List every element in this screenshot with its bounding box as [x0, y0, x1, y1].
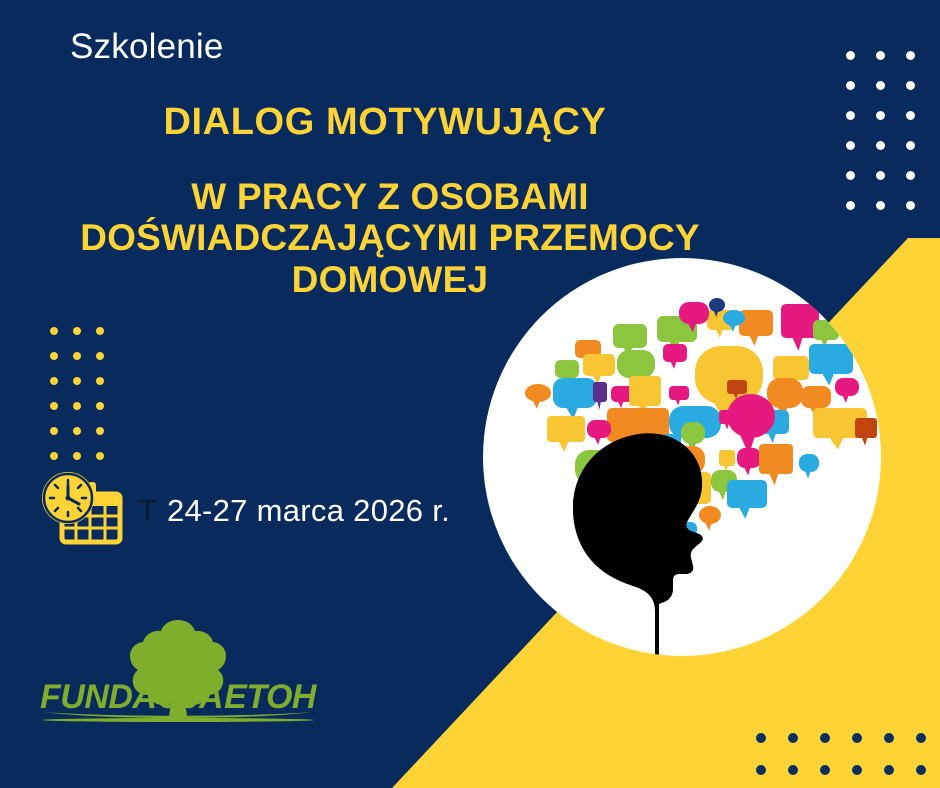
- decorative-dot: [50, 427, 58, 435]
- decorative-dot: [906, 171, 915, 180]
- decorative-dot: [788, 765, 798, 775]
- decorative-dot: [50, 402, 58, 410]
- decorative-dot: [96, 452, 104, 460]
- clock-calendar-icon: [36, 472, 128, 550]
- dot-grid-left: [42, 318, 111, 468]
- decorative-dot: [906, 81, 915, 90]
- decorative-dot: [73, 352, 81, 360]
- decorative-dot: [876, 171, 885, 180]
- decorative-dot: [756, 733, 766, 743]
- decorative-dot: [96, 427, 104, 435]
- subtitle-line-1: W PRACY Z OSOBAMI: [0, 176, 780, 217]
- decorative-dot: [876, 81, 885, 90]
- decorative-dot: [906, 111, 915, 120]
- two-heads-silhouette-icon: [483, 258, 881, 656]
- kicker-text: Szkolenie: [70, 28, 224, 67]
- decorative-dot: [846, 81, 855, 90]
- decorative-dot: [756, 765, 766, 775]
- decorative-dot: [906, 51, 915, 60]
- decorative-dot: [916, 765, 926, 775]
- date-row: T 24-27 marca 2026 r.: [36, 472, 450, 550]
- decorative-dot: [96, 377, 104, 385]
- page-title: DIALOG MOTYWUJĄCY: [0, 101, 770, 144]
- decorative-dot: [876, 51, 885, 60]
- decorative-dot: [50, 327, 58, 335]
- decorative-dot: [73, 452, 81, 460]
- decorative-dot: [96, 352, 104, 360]
- decorative-dot: [820, 733, 830, 743]
- decorative-dot: [50, 452, 58, 460]
- decorative-dot: [73, 377, 81, 385]
- decorative-dot: [50, 377, 58, 385]
- decorative-dot: [884, 733, 894, 743]
- decorative-dot: [846, 51, 855, 60]
- decorative-dot: [876, 141, 885, 150]
- decorative-dot: [73, 427, 81, 435]
- fundacja-etoh-logo[interactable]: FUNDACJA ETOH: [38, 612, 318, 740]
- subtitle-line-3: DOMOWEJ: [0, 259, 780, 300]
- subtitle: W PRACY Z OSOBAMI DOŚWIADCZAJĄCYMI PRZEM…: [0, 176, 780, 300]
- poster-canvas: Szkolenie DIALOG MOTYWUJĄCY W PRACY Z OS…: [0, 0, 940, 788]
- decorative-dot: [906, 201, 915, 210]
- decorative-dot: [846, 111, 855, 120]
- decorative-dot: [916, 733, 926, 743]
- dot-grid-bottom-right: [745, 722, 937, 786]
- decorative-dot: [846, 171, 855, 180]
- decorative-dot: [846, 141, 855, 150]
- decorative-dot: [884, 765, 894, 775]
- decorative-dot: [846, 201, 855, 210]
- subtitle-line-2: DOŚWIADCZAJĄCYMI PRZEMOCY: [0, 217, 780, 258]
- logo-baseline: [42, 718, 314, 722]
- date-prefix: T: [138, 493, 157, 529]
- logo-word-left: FUNDACJA: [40, 678, 223, 717]
- head-silhouette-right: [573, 433, 703, 656]
- decorative-dot: [96, 402, 104, 410]
- decorative-dot: [820, 765, 830, 775]
- decorative-dot: [788, 733, 798, 743]
- decorative-dot: [50, 352, 58, 360]
- dot-grid-top-right: [835, 40, 925, 220]
- decorative-dot: [906, 141, 915, 150]
- date-text: 24-27 marca 2026 r.: [167, 493, 450, 529]
- decorative-dot: [876, 111, 885, 120]
- decorative-dot: [852, 765, 862, 775]
- decorative-dot: [73, 402, 81, 410]
- decorative-dot: [73, 327, 81, 335]
- decorative-dot: [96, 327, 104, 335]
- circle-illustration: [483, 258, 881, 656]
- decorative-dot: [876, 201, 885, 210]
- logo-word-right: ETOH: [224, 678, 316, 717]
- decorative-dot: [852, 733, 862, 743]
